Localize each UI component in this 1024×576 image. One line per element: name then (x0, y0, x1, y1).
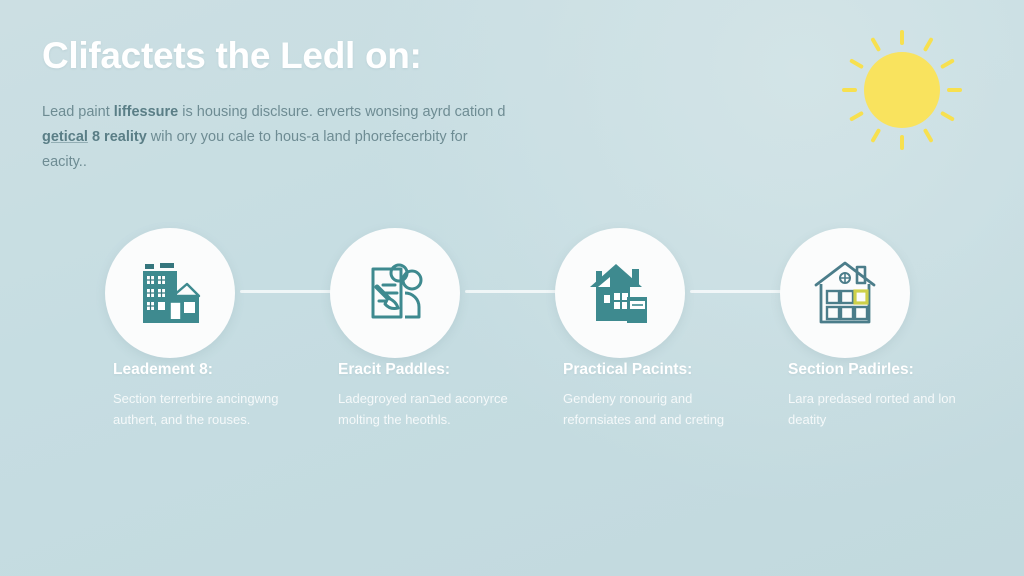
caption-3-body: Gendeny ronourig and refornsiates and an… (563, 388, 749, 430)
infographic-poster: Clifactets the Ledl on: Lead paint liffe… (0, 0, 1024, 576)
caption-3: Practical Pacints: Gendeny ronourig and … (563, 360, 749, 430)
caption-4-body: Lara predased rorted and lon deatity (788, 388, 974, 430)
flow-step-4[interactable] (780, 228, 910, 358)
flow-step-3[interactable] (555, 228, 685, 358)
sun-core (864, 52, 940, 128)
house-filled-icon (580, 253, 660, 333)
intro-part-2: liffessure (114, 104, 178, 120)
flow-step-4-circle (780, 228, 910, 358)
page-title: Clifactets the Ledl on: (42, 34, 742, 78)
flow-step-1[interactable] (105, 228, 235, 358)
caption-3-title: Practical Pacints: (563, 360, 749, 381)
caption-4-title: Section Padirles: (788, 360, 974, 381)
caption-4: Section Padirles: Lara predased rorted a… (788, 360, 974, 430)
flow-step-2[interactable] (330, 228, 460, 358)
intro-part-4: getical (42, 129, 88, 145)
sun-icon (838, 26, 966, 154)
caption-2: Eracit Paddles: Ladegroyed ranבed aconyr… (338, 360, 524, 430)
caption-1: Leadement 8: Section terrerbire ancingwn… (113, 360, 299, 430)
caption-2-title: Eracit Paddles: (338, 360, 524, 381)
caption-2-body: Ladegroyed ranבed aconyrce molting the h… (338, 388, 524, 430)
apartment-building-icon (129, 252, 211, 334)
intro-part-3: is housing disclsure. erverts wonsing ay… (178, 104, 505, 120)
flow-step-3-circle (555, 228, 685, 358)
flow-step-2-circle (330, 228, 460, 358)
process-flow (0, 228, 1024, 358)
intro-part-1: Lead paint (42, 104, 114, 120)
intro-paragraph: Lead paint liffessure is housing disclsu… (42, 100, 512, 175)
flow-step-1-circle (105, 228, 235, 358)
caption-1-body: Section terrerbire ancingwng authert, an… (113, 388, 299, 430)
caption-1-title: Leadement 8: (113, 360, 299, 381)
intro-part-5: 8 reality (88, 129, 147, 145)
house-outline-window-icon (805, 253, 885, 333)
document-signing-icon (355, 253, 435, 333)
